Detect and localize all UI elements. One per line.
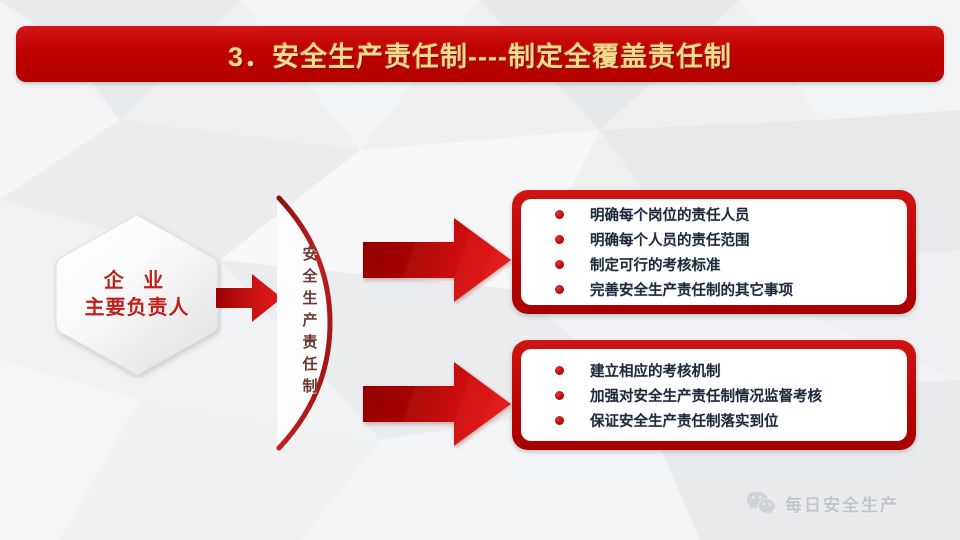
bullet-dot-icon (555, 391, 564, 400)
content-box-top-inner: 明确每个岗位的责任人员 明确每个人员的责任范围 制定可行的考核标准 完善安全生产… (521, 199, 907, 305)
list-item: 制定可行的考核标准 (555, 254, 907, 275)
big-arrow-top-icon (362, 214, 512, 306)
list-item: 保证安全生产责任制落实到位 (555, 410, 907, 431)
bullet-dot-icon (555, 235, 564, 244)
list-item: 完善安全生产责任制的其它事项 (555, 279, 907, 300)
hexagon-label-line2: 主要负责人 (52, 295, 222, 322)
list-item-label: 明确每个人员的责任范围 (590, 229, 750, 250)
list-item-label: 明确每个岗位的责任人员 (590, 204, 750, 225)
hexagon-label-line1: 企 业 (52, 268, 222, 295)
bullet-dot-icon (555, 260, 564, 269)
list-item-label: 加强对安全生产责任制情况监督考核 (590, 385, 822, 406)
list-item-label: 制定可行的考核标准 (590, 254, 721, 275)
hexagon-shape: 企 业 主要负责人 (52, 212, 222, 378)
list-item: 明确每个人员的责任范围 (555, 229, 907, 250)
content-box-top: 明确每个岗位的责任人员 明确每个人员的责任范围 制定可行的考核标准 完善安全生产… (512, 190, 916, 314)
bullet-dot-icon (555, 366, 564, 375)
lens-vertical-text: 安全生产责任制 (299, 246, 320, 400)
watermark: 每日安全生产 (746, 490, 899, 516)
content-box-bottom-inner: 建立相应的考核机制 加强对安全生产责任制情况监督考核 保证安全生产责任制落实到位 (521, 349, 907, 441)
bullet-dot-icon (555, 210, 564, 219)
bullet-dot-icon (555, 416, 564, 425)
watermark-label: 每日安全生产 (785, 491, 899, 516)
list-item-label: 建立相应的考核机制 (590, 360, 721, 381)
slide-title-bar: 3．安全生产责任制----制定全覆盖责任制 (16, 26, 944, 82)
hexagon-label: 企 业 主要负责人 (52, 268, 222, 322)
lens-vertical-label: 安全生产责任制 (266, 192, 340, 454)
list-item: 明确每个岗位的责任人员 (555, 204, 907, 225)
bullet-dot-icon (555, 285, 564, 294)
lens-shape: 安全生产责任制 (266, 192, 340, 454)
list-item: 加强对安全生产责任制情况监督考核 (555, 385, 907, 406)
wechat-icon (746, 490, 776, 516)
list-item-label: 完善安全生产责任制的其它事项 (590, 279, 793, 300)
list-item-label: 保证安全生产责任制落实到位 (590, 410, 779, 431)
big-arrow-bottom-icon (362, 358, 512, 450)
slide-canvas: 3．安全生产责任制----制定全覆盖责任制 企 业 主要负责人 (0, 0, 960, 540)
list-item: 建立相应的考核机制 (555, 360, 907, 381)
page-title: 3．安全生产责任制----制定全覆盖责任制 (228, 35, 732, 74)
content-box-bottom: 建立相应的考核机制 加强对安全生产责任制情况监督考核 保证安全生产责任制落实到位 (512, 340, 916, 450)
